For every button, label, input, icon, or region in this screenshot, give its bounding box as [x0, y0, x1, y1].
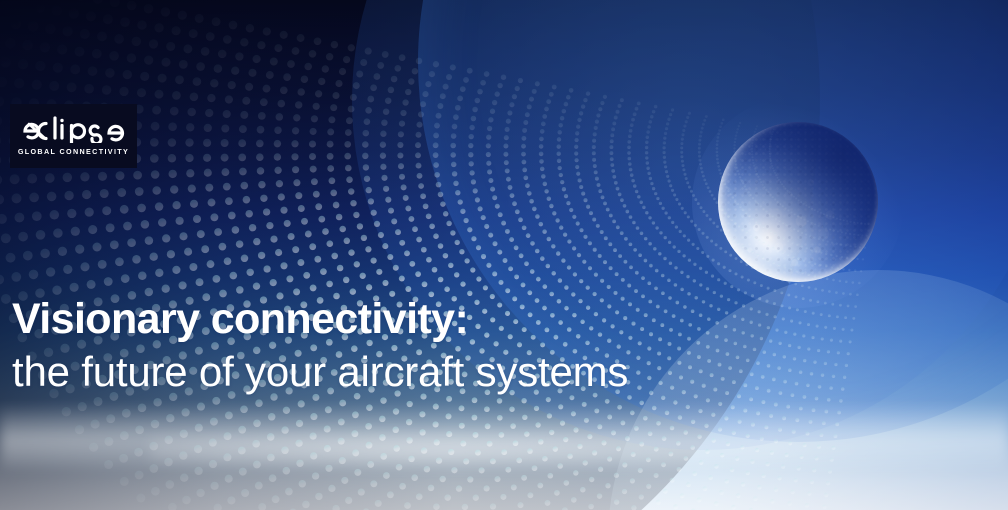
- eclipse-wordmark-icon: [22, 116, 126, 143]
- hero-subheadline: the future of your aircraft systems: [12, 347, 972, 397]
- hero-headline: Visionary connectivity:: [12, 294, 972, 344]
- banner-hero: GLOBAL CONNECTIVITY Visionary connectivi…: [0, 0, 1008, 510]
- logo-tagline: GLOBAL CONNECTIVITY: [18, 147, 129, 156]
- eclipse-logo[interactable]: GLOBAL CONNECTIVITY: [10, 104, 137, 168]
- hero-text-block: Visionary connectivity: the future of yo…: [12, 294, 972, 397]
- horizon-light-wash: [0, 400, 1008, 510]
- moon-graphic: [718, 122, 878, 282]
- moon-crescent-rim: [718, 122, 878, 282]
